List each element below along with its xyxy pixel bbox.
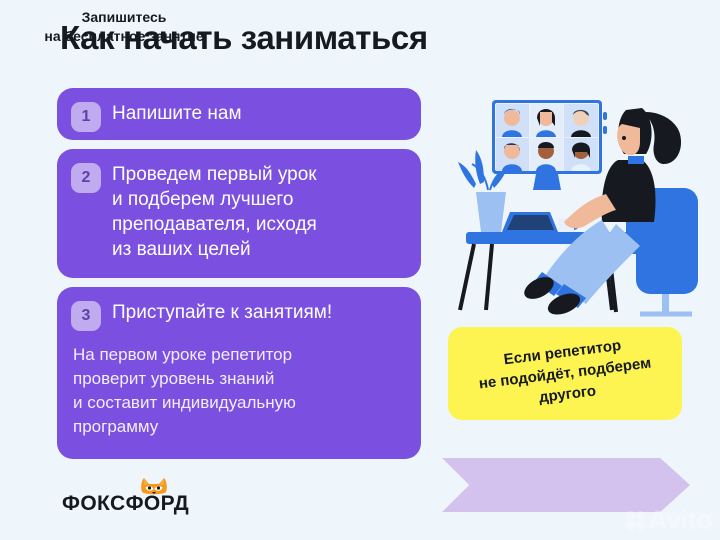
step-1-head: 1 Напишите нам (71, 100, 407, 132)
signup-ribbon-text: Запишитесь на бесплатное занятие (10, 0, 238, 54)
step-1-title: Напишите нам (112, 100, 242, 126)
participant-tile-4 (496, 138, 529, 171)
step-3-description: На первом уроке репетитор проверит урове… (73, 343, 407, 439)
participant-tile-1 (496, 104, 529, 137)
desk-leg-left2 (486, 244, 492, 310)
monitor (492, 100, 607, 190)
step-3-badge: 3 (71, 301, 101, 331)
step-2-title: Проведем первый урок и подберем лучшего … (112, 161, 317, 262)
guarantee-callout-text: Если репетитор не подойдёт, подберем дру… (443, 313, 687, 434)
poster-canvas: Как начать заниматься 1 Напишите нам 2 П… (0, 0, 720, 540)
guarantee-callout: Если репетитор не подойдёт, подберем дру… (448, 327, 682, 420)
desk-leg-left (460, 244, 474, 310)
participant-tile-5 (530, 138, 563, 171)
video-call-illustration (440, 72, 712, 317)
foxford-logo: ФОКСФОРД (62, 480, 212, 520)
signup-ribbon[interactable] (442, 458, 690, 512)
participant-tile-3 (564, 104, 598, 137)
participant-tile-2 (530, 104, 563, 137)
avito-dots-icon (626, 511, 645, 530)
step-2-badge: 2 (71, 163, 101, 193)
step-card-3: 3 Приступайте к занятиям! На первом урок… (57, 287, 421, 459)
step-3-head: 3 Приступайте к занятиям! (71, 299, 407, 331)
steps-list: 1 Напишите нам 2 Проведем первый урок и … (57, 88, 421, 468)
step-1-badge: 1 (71, 102, 101, 132)
logo-wordmark: ФОКСФОРД (62, 492, 189, 516)
step-card-1: 1 Напишите нам (57, 88, 421, 140)
step-3-title: Приступайте к занятиям! (112, 299, 332, 325)
participant-tile-6 (564, 138, 598, 171)
step-2-head: 2 Проведем первый урок и подберем лучшег… (71, 161, 407, 262)
step-card-2: 2 Проведем первый урок и подберем лучшег… (57, 149, 421, 278)
